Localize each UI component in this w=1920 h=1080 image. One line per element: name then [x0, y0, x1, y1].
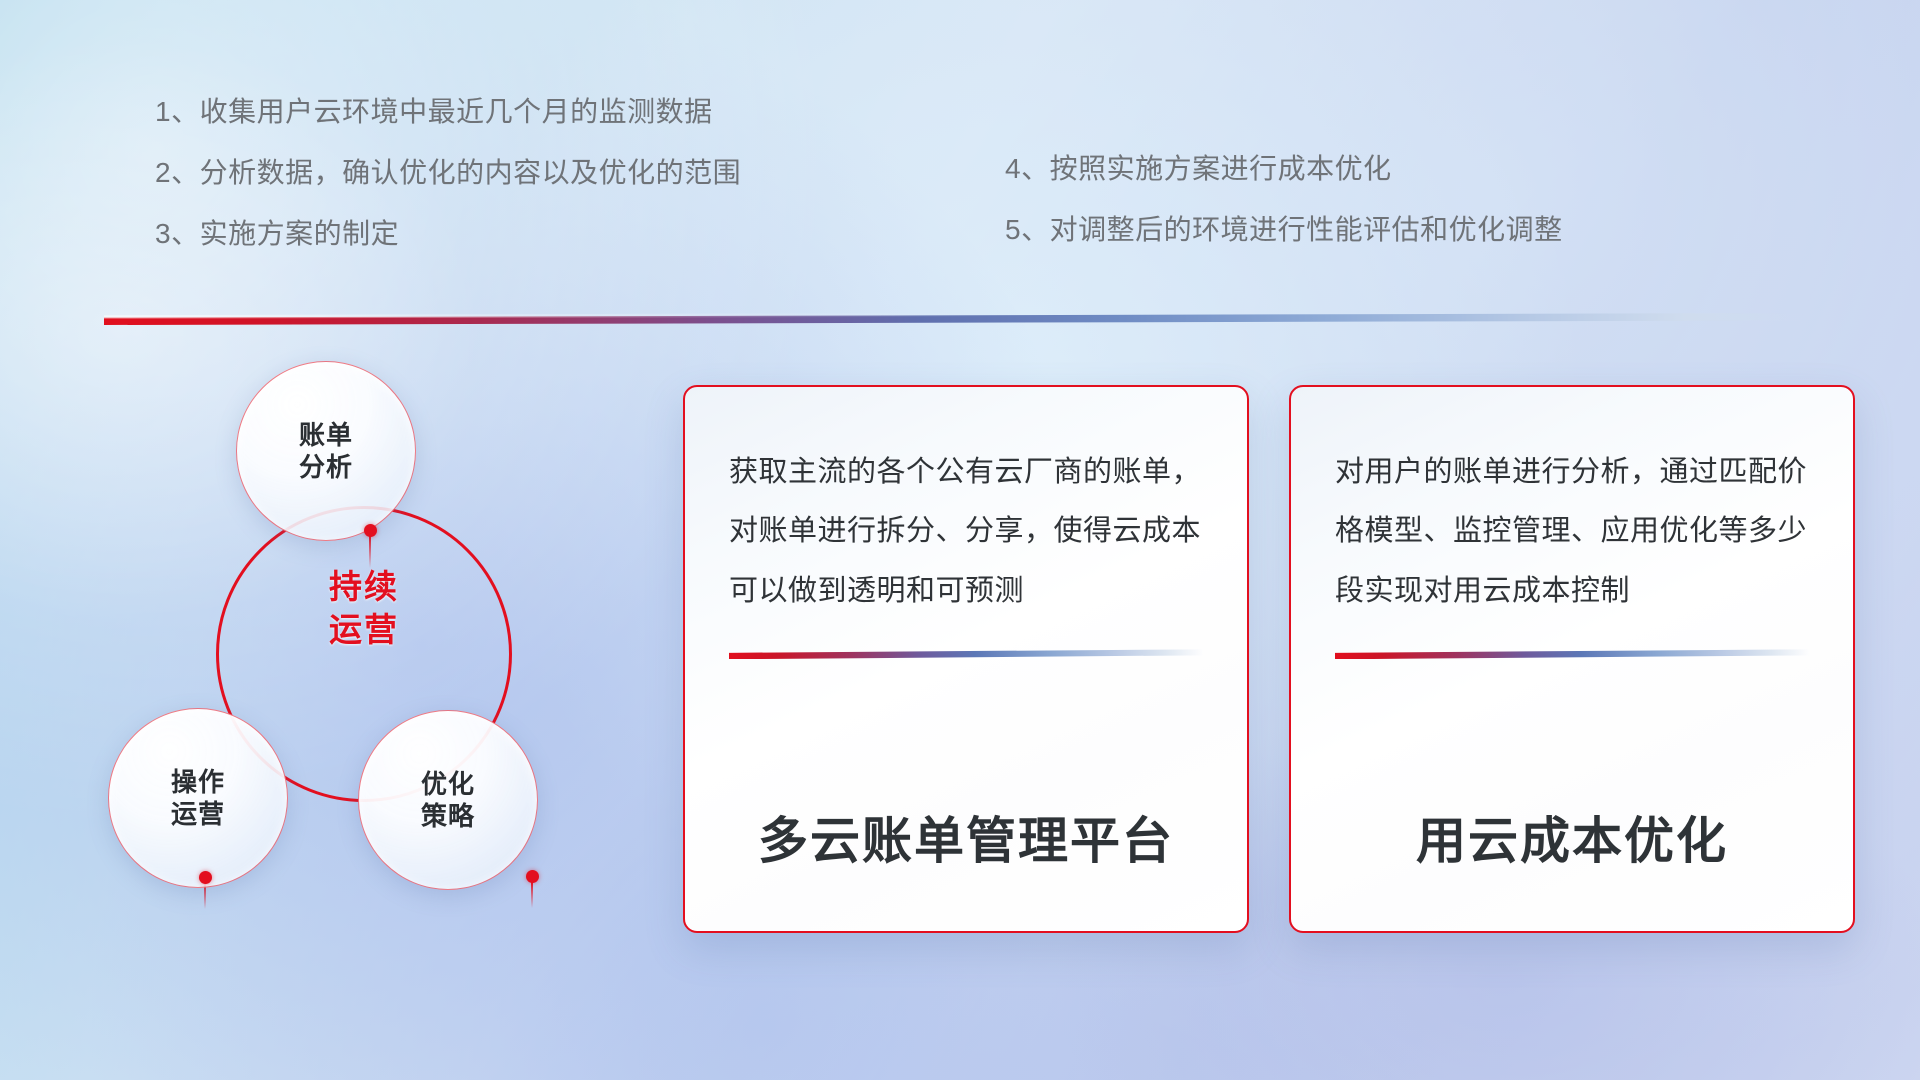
cycle-bubble-operations[interactable]: 操作 运营	[108, 708, 288, 888]
step-item-5: 5、对调整后的环境进行性能评估和优化调整	[1005, 216, 1563, 244]
step-item-2: 2、分析数据，确认优化的内容以及优化的范围	[155, 159, 741, 187]
cycle-bubble-billing-analysis[interactable]: 账单 分析	[236, 361, 416, 541]
step-item-1: 1、收集用户云环境中最近几个月的监测数据	[155, 98, 741, 126]
slide-canvas: 1、收集用户云环境中最近几个月的监测数据 2、分析数据，确认优化的内容以及优化的…	[0, 0, 1920, 1080]
card-divider	[1335, 649, 1809, 659]
steps-list-left: 1、收集用户云环境中最近几个月的监测数据 2、分析数据，确认优化的内容以及优化的…	[155, 98, 741, 281]
feature-card-cloud-cost-optimization[interactable]: 对用户的账单进行分析，通过匹配价格模型、监控管理、应用优化等多少段实现对用云成本…	[1289, 385, 1855, 933]
connector-node-top	[364, 524, 377, 537]
connector-stem-top	[369, 536, 371, 568]
section-divider	[104, 313, 1804, 325]
card-divider-bar	[1335, 649, 1809, 659]
cycle-bubble-label: 账单 分析	[299, 419, 353, 484]
cycle-bubble-optimization-strategy[interactable]: 优化 策略	[358, 710, 538, 890]
card-description: 对用户的账单进行分析，通过匹配价格模型、监控管理、应用优化等多少段实现对用云成本…	[1335, 443, 1809, 621]
cycle-center-label: 持续 运营	[294, 566, 434, 652]
cycle-bubble-label: 操作 运营	[171, 766, 225, 831]
card-divider-bar	[729, 649, 1203, 659]
card-description: 获取主流的各个公有云厂商的账单，对账单进行拆分、分享，使得云成本可以做到透明和可…	[729, 443, 1203, 621]
cycle-diagram: 账单 分析 操作 运营 优化 策略 持续 运营	[108, 350, 668, 950]
step-item-3: 3、实施方案的制定	[155, 220, 741, 248]
connector-node-left	[199, 871, 212, 884]
steps-list-right: 4、按照实施方案进行成本优化 5、对调整后的环境进行性能评估和优化调整	[1005, 155, 1563, 277]
connector-stem-right	[531, 882, 533, 908]
cycle-bubble-label: 优化 策略	[421, 768, 475, 833]
feature-card-multicloud-billing[interactable]: 获取主流的各个公有云厂商的账单，对账单进行拆分、分享，使得云成本可以做到透明和可…	[683, 385, 1249, 933]
card-title: 多云账单管理平台	[729, 801, 1203, 873]
connector-node-right	[526, 870, 539, 883]
card-title: 用云成本优化	[1335, 801, 1809, 873]
card-divider	[729, 649, 1203, 659]
step-item-4: 4、按照实施方案进行成本优化	[1005, 155, 1563, 183]
